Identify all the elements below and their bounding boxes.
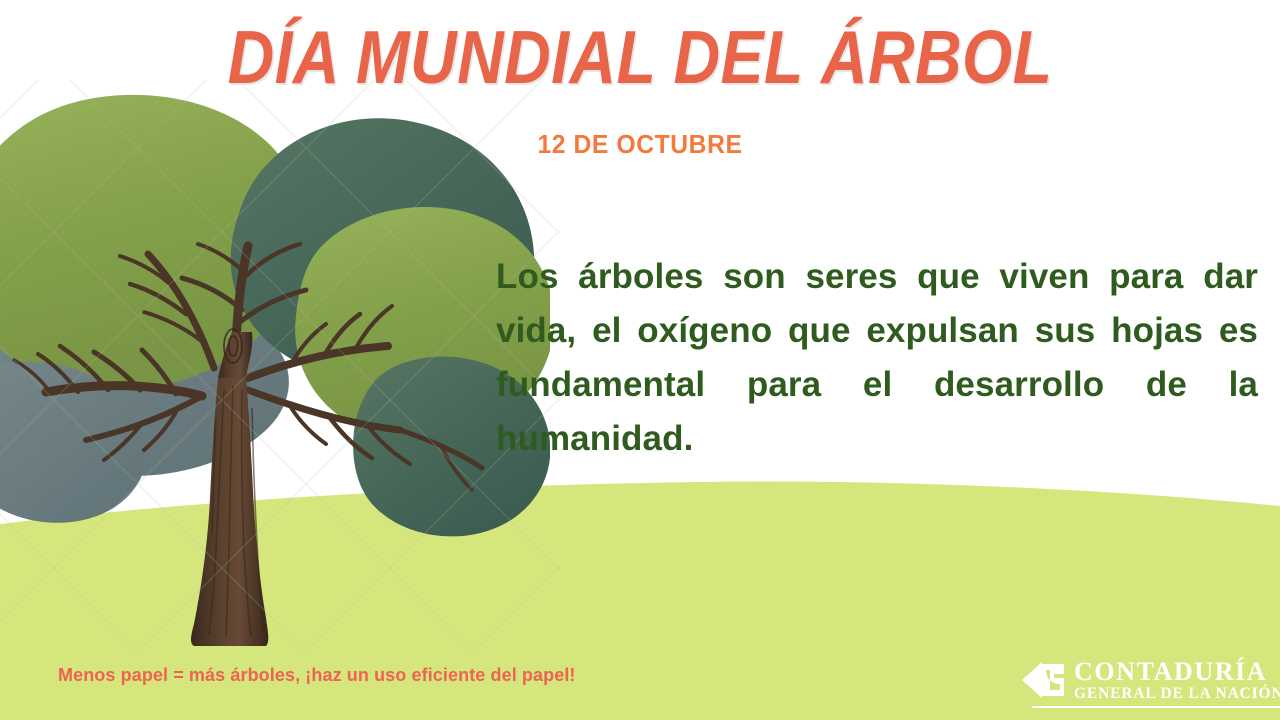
body-paragraph: Los árboles son seres que viven para dar… [496, 250, 1258, 466]
logo-primary-text: CONTADURÍA [1074, 658, 1276, 685]
organization-logo: CONTADURÍA GENERAL DE LA NACIÓN [1012, 658, 1280, 714]
logo-text: CONTADURÍA GENERAL DE LA NACIÓN [1074, 658, 1276, 702]
logo-secondary-text: GENERAL DE LA NACIÓN [1074, 685, 1276, 702]
logo-underline [1032, 706, 1280, 708]
footer-note: Menos papel = más árboles, ¡haz un uso e… [58, 664, 576, 686]
page-title: DÍA MUNDIAL DEL ÁRBOL [90, 14, 1191, 100]
contaduria-emblem-icon [1020, 660, 1070, 700]
poster-canvas: DÍA MUNDIAL DEL ÁRBOL 12 DE OCTUBRE Los … [0, 0, 1280, 720]
page-subtitle: 12 DE OCTUBRE [32, 129, 1248, 159]
tree-illustration [0, 78, 550, 648]
